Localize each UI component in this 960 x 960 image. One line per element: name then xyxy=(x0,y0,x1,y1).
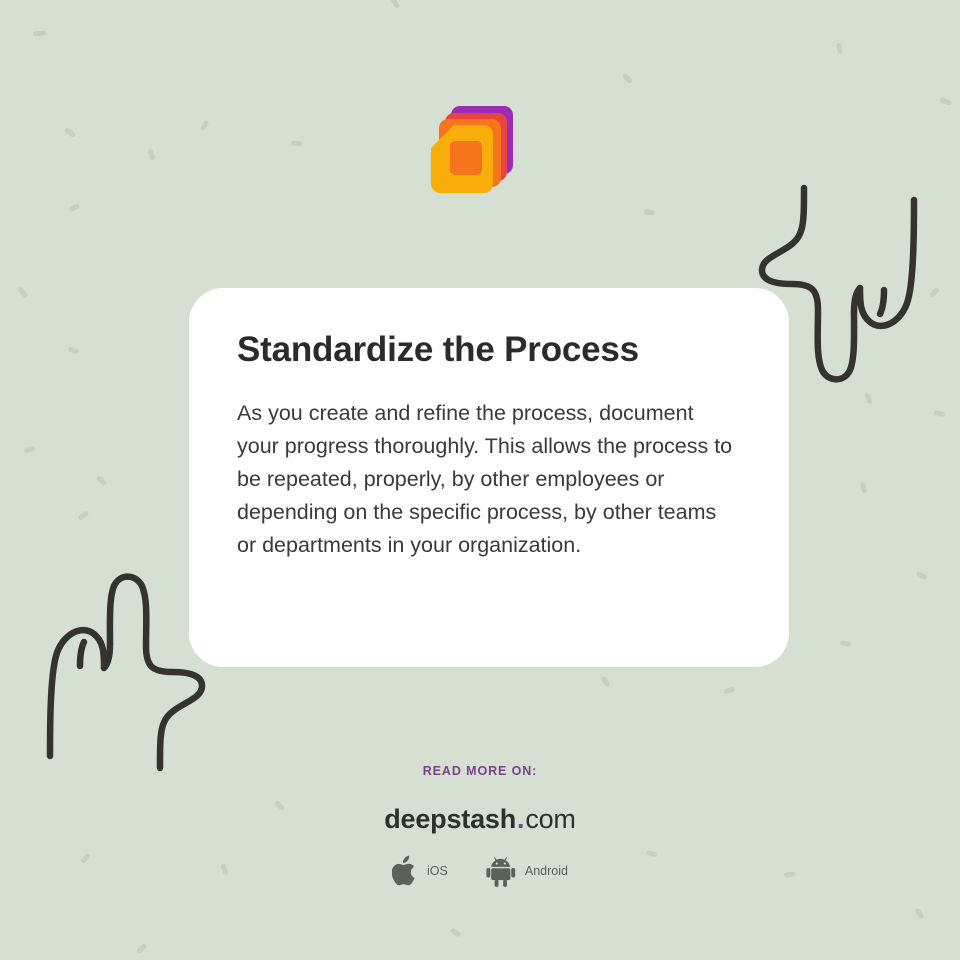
confetti-fleck xyxy=(17,286,28,299)
android-icon xyxy=(486,855,516,887)
wordmark-name: deepstash xyxy=(384,804,516,834)
confetti-fleck xyxy=(147,148,155,160)
confetti-fleck xyxy=(940,97,953,106)
confetti-fleck xyxy=(836,43,843,55)
card-body-text: As you create and refine the process, do… xyxy=(237,397,741,562)
confetti-fleck xyxy=(199,120,209,132)
confetti-fleck xyxy=(136,943,148,954)
read-more-label: READ MORE ON: xyxy=(0,764,960,778)
footer: READ MORE ON: deepstash.com iOS xyxy=(0,764,960,887)
android-store-label: Android xyxy=(525,864,568,878)
confetti-fleck xyxy=(929,287,940,298)
confetti-fleck xyxy=(291,141,302,147)
ios-store-label: iOS xyxy=(427,864,448,878)
confetti-fleck xyxy=(33,31,46,37)
confetti-fleck xyxy=(915,571,927,581)
confetti-fleck xyxy=(600,676,610,688)
pointing-hand-icon-bottom-left xyxy=(28,563,208,778)
confetti-fleck xyxy=(723,686,735,694)
confetti-fleck xyxy=(934,410,946,418)
confetti-fleck xyxy=(96,475,108,486)
confetti-fleck xyxy=(864,392,873,404)
card-title: Standardize the Process xyxy=(237,330,741,371)
wordmark-dot: . xyxy=(516,804,525,834)
confetti-fleck xyxy=(840,640,852,646)
deepstash-logo-icon xyxy=(430,104,516,196)
confetti-fleck xyxy=(64,127,77,138)
confetti-fleck xyxy=(450,927,462,937)
confetti-fleck xyxy=(67,346,79,354)
android-store-badge[interactable]: Android xyxy=(486,855,568,887)
idea-card-canvas: Standardize the Process As you create an… xyxy=(0,0,960,960)
idea-card: Standardize the Process As you create an… xyxy=(189,288,789,667)
confetti-fleck xyxy=(914,908,924,920)
confetti-fleck xyxy=(68,203,80,213)
confetti-fleck xyxy=(24,446,36,454)
confetti-fleck xyxy=(622,73,633,85)
ios-store-badge[interactable]: iOS xyxy=(392,855,448,887)
confetti-fleck xyxy=(390,0,400,9)
confetti-fleck xyxy=(78,510,90,521)
deepstash-wordmark[interactable]: deepstash.com xyxy=(0,806,960,833)
confetti-fleck xyxy=(644,209,656,216)
wordmark-tld: com xyxy=(525,804,575,834)
apple-icon xyxy=(392,855,418,887)
confetti-fleck xyxy=(860,482,868,494)
store-badges: iOS xyxy=(0,855,960,887)
